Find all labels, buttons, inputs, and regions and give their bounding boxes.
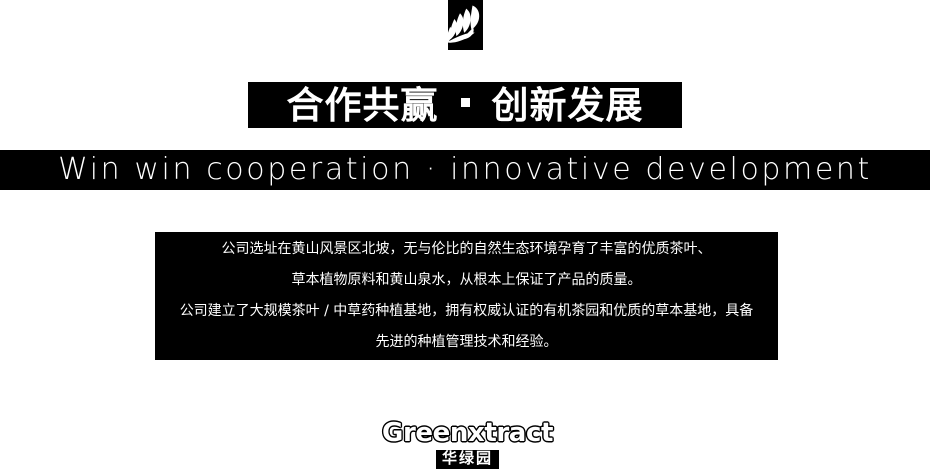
brand-lockup: Greenxtract 华绿园 xyxy=(385,420,550,473)
subtitle-band: Win win cooperation · innovative develop… xyxy=(0,150,930,190)
body-text-block: 公司选址在黄山风景区北坡，无与伦比的自然生态环境孕育了丰富的优质茶叶、 草本植物… xyxy=(155,232,778,360)
body-line: 公司建立了大规模茶叶 / 中草药种植基地，拥有权威认证的有机茶园和优质的草本基地… xyxy=(180,296,754,327)
headline-right: 创新发展 xyxy=(492,87,644,124)
leaf-fan-logo-icon xyxy=(448,0,483,50)
brand-chinese-name: 华绿园 xyxy=(442,449,493,467)
subtitle-text: Win win cooperation · innovative develop… xyxy=(58,155,872,185)
body-line: 草本植物原料和黄山泉水，从根本上保证了产品的质量。 xyxy=(292,265,642,296)
headline-left: 合作共赢 xyxy=(287,87,439,124)
headline-separator-dot xyxy=(461,98,470,107)
brand-chinese-name-box: 华绿园 xyxy=(436,450,499,469)
body-line: 先进的种植管理技术和经验。 xyxy=(376,327,558,358)
brand-wordmark: Greenxtract xyxy=(382,420,553,446)
slide-page: 合作共赢 创新发展 Win win cooperation · innovati… xyxy=(0,0,930,473)
body-line: 公司选址在黄山风景区北坡，无与伦比的自然生态环境孕育了丰富的优质茶叶、 xyxy=(222,234,712,265)
headline-band: 合作共赢 创新发展 xyxy=(248,82,682,128)
